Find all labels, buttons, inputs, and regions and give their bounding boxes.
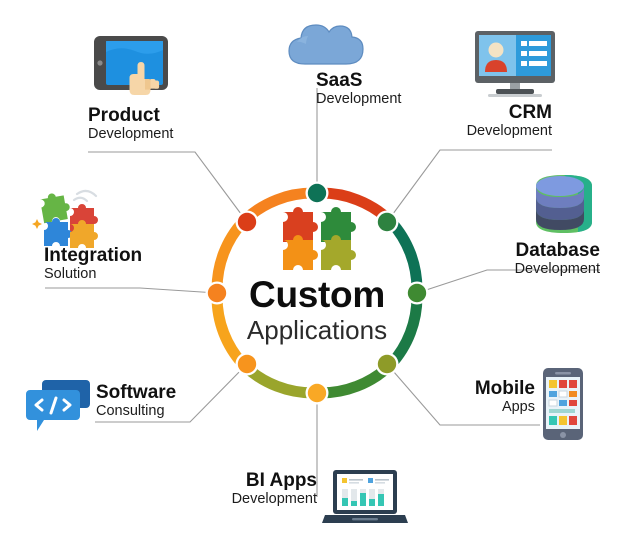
label-software-title: Software bbox=[96, 382, 176, 403]
label-software-subtitle: Consulting bbox=[96, 403, 176, 420]
label-mobile: Mobile Apps bbox=[420, 378, 535, 416]
node-product[interactable] bbox=[238, 213, 256, 231]
label-bi-apps: BI Apps Development bbox=[182, 470, 317, 508]
code-speech-bubble-icon bbox=[22, 378, 96, 436]
label-crm-title: CRM bbox=[400, 102, 552, 123]
node-mobile[interactable] bbox=[378, 355, 396, 373]
label-mobile-title: Mobile bbox=[420, 378, 535, 399]
label-bi-apps-subtitle: Development bbox=[182, 491, 317, 508]
label-product-title: Product bbox=[88, 105, 173, 126]
node-software[interactable] bbox=[238, 355, 256, 373]
center-title-sub: Applications bbox=[161, 315, 473, 346]
label-database: Database Development bbox=[448, 240, 600, 278]
monitor-contact-card-icon bbox=[472, 28, 558, 100]
label-crm-subtitle: Development bbox=[400, 123, 552, 140]
label-bi-apps-title: BI Apps bbox=[182, 470, 317, 491]
laptop-chart-icon bbox=[322, 468, 408, 530]
smartphone-apps-icon bbox=[541, 366, 585, 442]
label-mobile-subtitle: Apps bbox=[420, 399, 535, 416]
tablet-touch-icon bbox=[90, 32, 174, 100]
label-crm: CRM Development bbox=[400, 102, 552, 140]
label-saas-title: SaaS bbox=[316, 70, 401, 91]
diagram-canvas: Custom Applications Product Development bbox=[0, 0, 622, 547]
label-database-subtitle: Development bbox=[448, 261, 600, 278]
database-cylinder-icon bbox=[528, 172, 600, 240]
node-crm[interactable] bbox=[378, 213, 396, 231]
label-saas-subtitle: Development bbox=[316, 91, 401, 108]
node-saas[interactable] bbox=[308, 184, 326, 202]
puzzle-pieces-icon bbox=[28, 186, 106, 250]
four-piece-puzzle-icon bbox=[273, 202, 361, 270]
label-product: Product Development bbox=[88, 105, 173, 143]
cloud-icon bbox=[283, 8, 375, 70]
label-database-title: Database bbox=[448, 240, 600, 261]
label-integration-subtitle: Solution bbox=[44, 266, 142, 283]
node-bi-apps[interactable] bbox=[308, 384, 326, 402]
label-integration: Integration Solution bbox=[44, 245, 142, 283]
label-integration-title: Integration bbox=[44, 245, 142, 266]
label-software: Software Consulting bbox=[96, 382, 176, 420]
label-product-subtitle: Development bbox=[88, 126, 173, 143]
label-saas: SaaS Development bbox=[316, 70, 401, 108]
center-title-main: Custom bbox=[161, 275, 473, 315]
center-title-block: Custom Applications bbox=[161, 275, 473, 346]
